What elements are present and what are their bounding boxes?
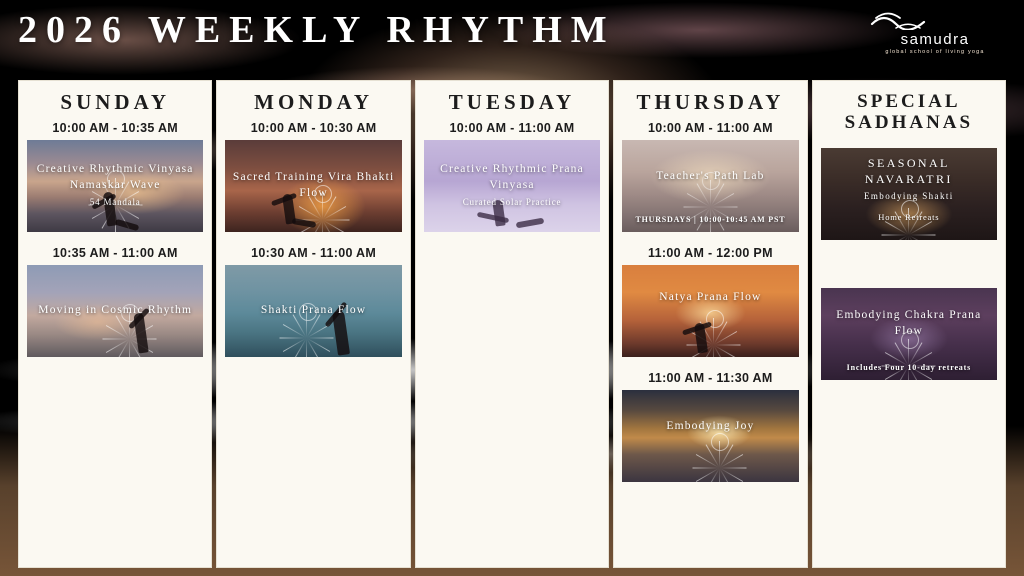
session-title: Natya Prana Flow bbox=[653, 290, 767, 306]
time-label: 10:00 AM - 10:30 AM bbox=[251, 121, 377, 135]
weekly-schedule-page: 2026 WEEKLY RHYTHM samudra global school… bbox=[0, 0, 1024, 576]
time-label: 10:30 AM - 11:00 AM bbox=[251, 246, 376, 260]
session-card[interactable]: Shakti Prana Flow bbox=[225, 265, 401, 357]
session-title: SEASONAL NAVARATRI Embodying Shakti bbox=[821, 155, 997, 203]
session-footer: Includes Four 10-day retreats bbox=[821, 363, 997, 372]
day-column-tuesday: TUESDAY 10:00 AM - 11:00 AM Creative Rhy… bbox=[415, 80, 609, 568]
session-title-text: Creative Rhythmic Prana Vinyasa bbox=[440, 163, 584, 191]
page-title: 2026 WEEKLY RHYTHM bbox=[18, 8, 616, 52]
session-card[interactable]: Natya Prana Flow bbox=[622, 265, 798, 357]
session-subtitle: Curated Solar Practice bbox=[430, 196, 594, 208]
session-card[interactable]: Embodying Joy bbox=[622, 390, 798, 482]
session-title: Sacred Training Vira Bhakti Flow bbox=[225, 170, 401, 201]
time-label: 10:00 AM - 11:00 AM bbox=[450, 121, 575, 135]
session-title: Shakti Prana Flow bbox=[255, 303, 372, 319]
brand-logo: samudra global school of living yoga bbox=[870, 12, 1000, 55]
day-column-sunday: SUNDAY 10:00 AM - 10:35 AM Creative Rhyt… bbox=[18, 80, 212, 568]
session-footer: Home Retreats bbox=[821, 212, 997, 222]
day-heading-monday: MONDAY bbox=[254, 91, 373, 115]
session-card[interactable]: Creative Rhythmic Prana Vinyasa Curated … bbox=[424, 140, 600, 232]
session-title-text: Embodying Joy bbox=[666, 420, 754, 432]
day-heading-tuesday: TUESDAY bbox=[449, 91, 575, 115]
session-title: Embodying Chakra Prana Flow bbox=[821, 308, 997, 339]
session-title: Creative Rhythmic Vinyasa Namaskar Wave … bbox=[27, 162, 203, 208]
time-label: 11:00 AM - 11:30 AM bbox=[648, 371, 772, 385]
session-footer: THURSDAYS | 10:00-10:45 AM PST bbox=[622, 215, 798, 224]
session-title-text: Creative Rhythmic Vinyasa Namaskar Wave bbox=[37, 163, 194, 191]
day-column-thursday: THURSDAY 10:00 AM - 11:00 AM Teacher's P… bbox=[613, 80, 807, 568]
waves-icon bbox=[870, 12, 1000, 30]
day-heading-special-sadhanas: SPECIAL SADHANAS bbox=[821, 91, 997, 134]
session-card[interactable]: Sacred Training Vira Bhakti Flow bbox=[225, 140, 401, 232]
session-title: Embodying Joy bbox=[660, 419, 760, 435]
time-label: 10:00 AM - 11:00 AM bbox=[648, 121, 773, 135]
session-title: Moving in Cosmic Rhythm bbox=[32, 303, 198, 319]
brand-name: samudra bbox=[870, 32, 1000, 47]
day-heading-thursday: THURSDAY bbox=[636, 91, 784, 115]
session-title: Teacher's Path Lab bbox=[650, 169, 770, 185]
session-title-text: Embodying Chakra Prana Flow bbox=[836, 309, 981, 337]
time-label: 10:00 AM - 10:35 AM bbox=[52, 121, 178, 135]
time-label: 10:35 AM - 11:00 AM bbox=[53, 246, 178, 260]
session-title-text: Moving in Cosmic Rhythm bbox=[38, 304, 192, 316]
session-card[interactable]: Moving in Cosmic Rhythm bbox=[27, 265, 203, 357]
session-subtitle: 54 Mandala bbox=[33, 196, 197, 208]
session-title-text: SEASONAL NAVARATRI bbox=[865, 156, 953, 186]
day-column-monday: MONDAY 10:00 AM - 10:30 AM Sacred Traini… bbox=[216, 80, 410, 568]
session-card[interactable]: SEASONAL NAVARATRI Embodying Shakti Home… bbox=[821, 148, 997, 240]
session-card[interactable]: Teacher's Path Lab THURSDAYS | 10:00-10:… bbox=[622, 140, 798, 232]
session-title-text: Teacher's Path Lab bbox=[656, 170, 764, 182]
session-subtitle: Embodying Shakti bbox=[827, 190, 991, 202]
session-title: Creative Rhythmic Prana Vinyasa Curated … bbox=[424, 162, 600, 208]
day-heading-sunday: SUNDAY bbox=[60, 91, 170, 115]
session-title-text: Sacred Training Vira Bhakti Flow bbox=[233, 171, 395, 199]
session-card[interactable]: Embodying Chakra Prana Flow Includes Fou… bbox=[821, 288, 997, 380]
schedule-columns: SUNDAY 10:00 AM - 10:35 AM Creative Rhyt… bbox=[18, 80, 1006, 568]
time-label: 11:00 AM - 12:00 PM bbox=[648, 246, 773, 260]
session-title-text: Shakti Prana Flow bbox=[261, 304, 366, 316]
session-card[interactable]: Creative Rhythmic Vinyasa Namaskar Wave … bbox=[27, 140, 203, 232]
day-column-special-sadhanas: SPECIAL SADHANAS SEASONAL NAVARATRI Embo… bbox=[812, 80, 1006, 568]
brand-tagline: global school of living yoga bbox=[870, 49, 1000, 55]
session-title-text: Natya Prana Flow bbox=[659, 291, 761, 303]
